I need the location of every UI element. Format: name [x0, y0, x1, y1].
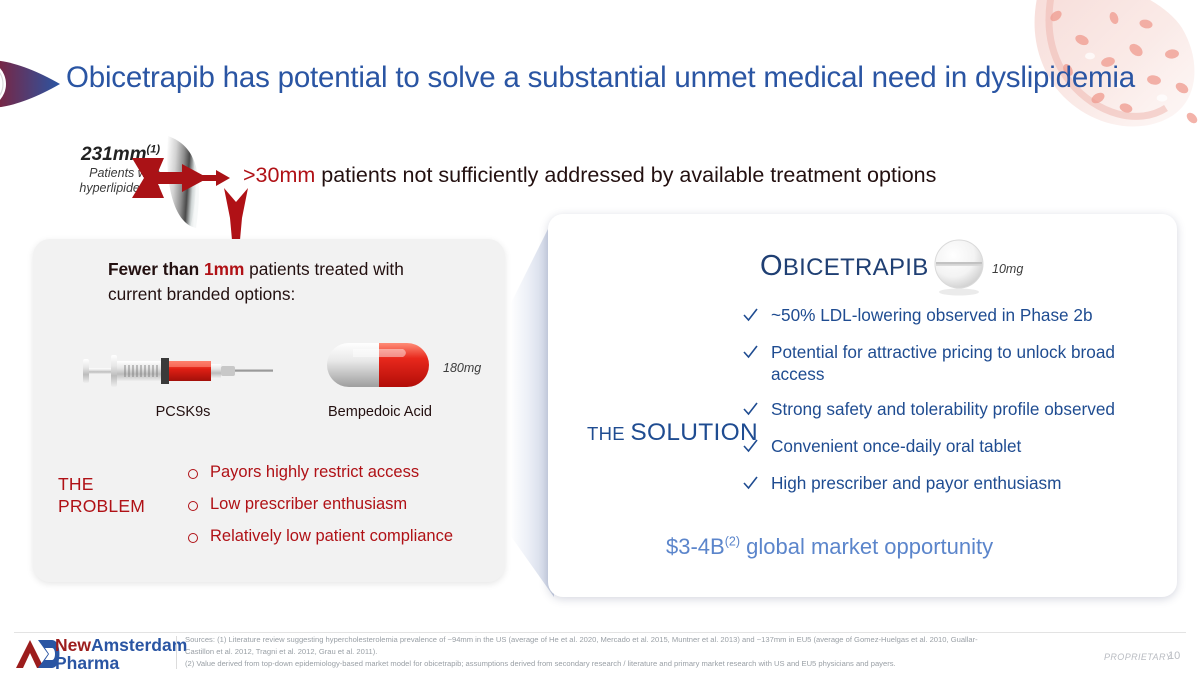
drug-name-1: Bempedoic Acid	[310, 404, 450, 420]
circle-bullet-icon	[188, 501, 198, 511]
subheadline-rest: patients not sufficiently addressed by a…	[315, 163, 936, 187]
problem-label-line1: THE	[58, 474, 94, 494]
sources-note: Sources: (1) Literature review suggestin…	[185, 634, 1090, 670]
list-item: Low prescriber enthusiasm	[188, 495, 498, 515]
subheadline: >30mm patients not sufficiently addresse…	[243, 163, 936, 188]
product-title: OBICETRAPIB	[760, 250, 929, 283]
drug-row: PCSK9s	[33, 331, 505, 446]
solution-label: THE SOLUTION	[568, 419, 758, 447]
check-icon	[743, 474, 758, 496]
drug-dose-1: 180mg	[443, 361, 481, 375]
sources-line-3: (2) Value derived from top-down epidemio…	[185, 658, 1090, 670]
list-item: Payors highly restrict access	[188, 463, 498, 483]
capsule-icon	[323, 339, 438, 396]
problem-label: THE PROBLEM	[58, 474, 163, 518]
left-card-heading: Fewer than 1mm patients treated with cur…	[108, 257, 478, 306]
opportunity-value: $3-4B	[666, 534, 725, 559]
left-head-highlight: 1mm	[204, 259, 244, 279]
problem-list: Payors highly restrict access Low prescr…	[188, 463, 498, 558]
benefit-list: ~50% LDL-lowering observed in Phase 2b P…	[743, 304, 1143, 509]
drug-name-0: PCSK9s	[128, 404, 238, 420]
tablet-dose: 10mg	[992, 262, 1023, 276]
benefit-text: Potential for attractive pricing to unlo…	[771, 341, 1143, 385]
problem-section: THE PROBLEM Payors highly restrict acces…	[33, 454, 505, 564]
problem-text: Relatively low patient compliance	[210, 527, 453, 547]
benefit-text: High prescriber and payor enthusiasm	[771, 472, 1061, 494]
benefit-text: Convenient once-daily oral tablet	[771, 435, 1021, 457]
page-number: 10	[1168, 650, 1180, 662]
sources-line-2: Castillon et al. 2012, Tragni et al. 201…	[185, 646, 1090, 658]
company-name-line1: NewAmsterdam	[55, 636, 187, 654]
proprietary-label: PROPRIETARY	[1104, 652, 1172, 662]
tablet-icon	[928, 236, 990, 303]
opportunity-superscript: (2)	[725, 535, 740, 549]
list-item: High prescriber and payor enthusiasm	[743, 472, 1143, 496]
sources-line-1: Sources: (1) Literature review suggestin…	[185, 634, 1090, 646]
opportunity-rest: global market opportunity	[740, 534, 993, 559]
list-item: Convenient once-daily oral tablet	[743, 435, 1143, 459]
list-item: Strong safety and tolerability profile o…	[743, 398, 1143, 422]
page-title: Obicetrapib has potential to solve a sub…	[66, 61, 1076, 95]
footer-vertical-divider	[176, 636, 177, 669]
product-initial: O	[760, 250, 783, 282]
subheadline-highlight: >30mm	[243, 163, 315, 187]
market-opportunity: $3-4B(2) global market opportunity	[666, 534, 993, 560]
footer-divider	[14, 632, 1186, 633]
left-head-pre: Fewer than	[108, 259, 204, 279]
solution-label-small: THE	[587, 423, 630, 444]
list-item: Potential for attractive pricing to unlo…	[743, 341, 1143, 385]
check-icon	[743, 343, 758, 365]
check-icon	[743, 306, 758, 328]
benefit-text: Strong safety and tolerability profile o…	[771, 398, 1115, 420]
left-head-line2: current branded options:	[108, 284, 295, 304]
problem-label-line2: PROBLEM	[58, 496, 145, 516]
product-rest: BICETRAPIB	[783, 254, 929, 281]
problem-card: Fewer than 1mm patients treated with cur…	[33, 239, 505, 582]
problem-text: Payors highly restrict access	[210, 463, 419, 483]
problem-text: Low prescriber enthusiasm	[210, 495, 407, 515]
slide: Obicetrapib has potential to solve a sub…	[0, 0, 1200, 675]
brand-leaf-icon	[0, 52, 66, 116]
company-name: NewAmsterdam Pharma	[55, 636, 187, 672]
check-icon	[743, 437, 758, 459]
list-item: ~50% LDL-lowering observed in Phase 2b	[743, 304, 1143, 328]
company-name-line2: Pharma	[55, 654, 187, 672]
company-name-amsterdam: Amsterdam	[91, 635, 187, 655]
circle-bullet-icon	[188, 469, 198, 479]
solution-card: OBICETRAPIB 10mg THE SOLUTION	[548, 214, 1177, 597]
check-icon	[743, 400, 758, 422]
solution-label-large: SOLUTION	[630, 419, 758, 446]
syringe-icon	[81, 341, 276, 406]
company-name-new: New	[55, 635, 91, 655]
benefit-text: ~50% LDL-lowering observed in Phase 2b	[771, 304, 1093, 326]
list-item: Relatively low patient compliance	[188, 527, 498, 547]
circle-bullet-icon	[188, 533, 198, 543]
left-head-post: patients treated with	[244, 259, 403, 279]
